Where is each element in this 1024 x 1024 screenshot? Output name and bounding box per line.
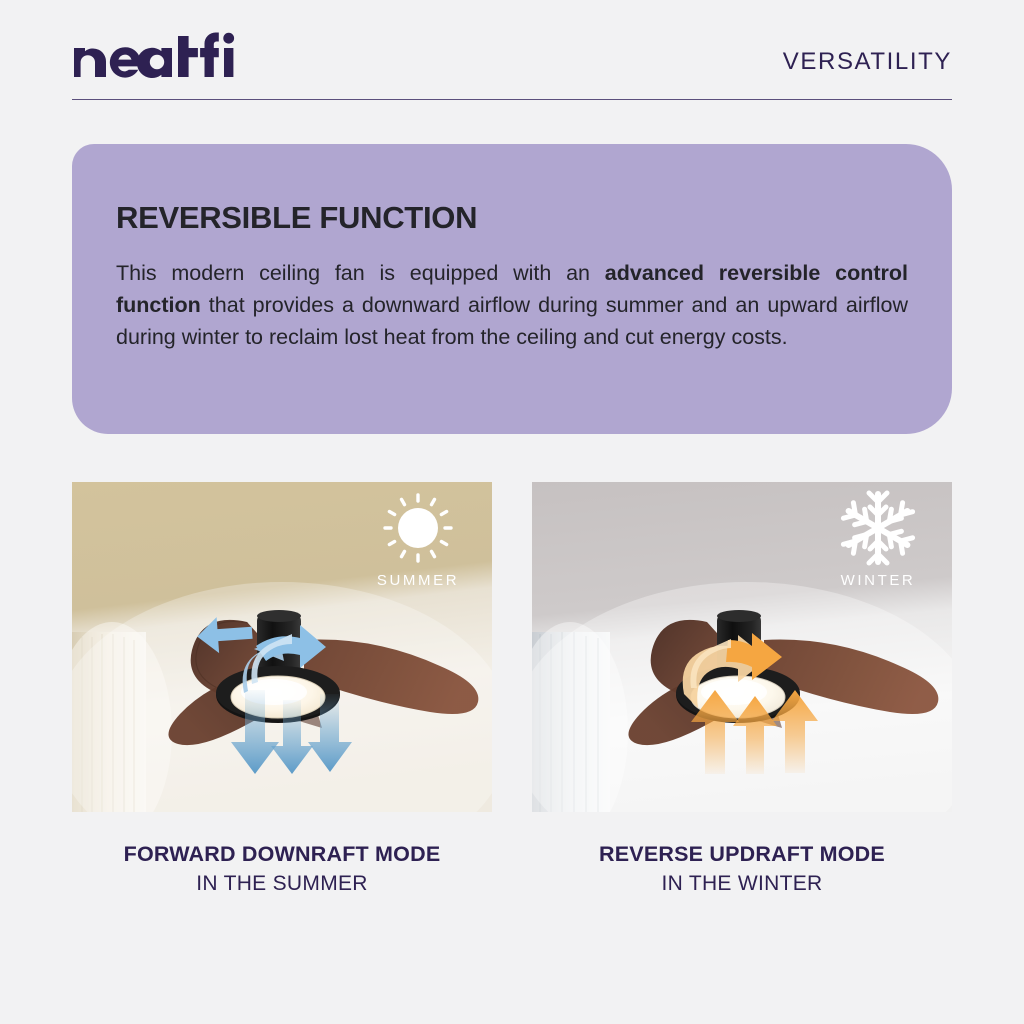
caption-winter: REVERSE UPDRAFT MODE IN THE WINTER xyxy=(532,840,952,898)
card-heading: REVERSIBLE FUNCTION xyxy=(116,200,908,236)
airflow-arrows-up xyxy=(691,690,818,774)
card-body: This modern ceiling fan is equipped with… xyxy=(116,258,908,353)
badge-label-summer: SUMMER xyxy=(377,572,459,589)
badge-label-winter: WINTER xyxy=(841,572,916,589)
card-body-text-1: This modern ceiling fan is equipped with… xyxy=(116,261,605,285)
brand-logo xyxy=(72,30,237,80)
panel-summer: SUMMER xyxy=(72,482,492,812)
caption-summer-subtitle: IN THE SUMMER xyxy=(72,869,492,898)
mode-panels: SUMMER xyxy=(72,482,952,812)
card-body-text-2: that provides a downward airflow during … xyxy=(116,293,908,349)
caption-winter-subtitle: IN THE WINTER xyxy=(532,869,952,898)
caption-summer: FORWARD DOWNRAFT MODE IN THE SUMMER xyxy=(72,840,492,898)
page-header: VERSATILITY xyxy=(72,34,952,100)
caption-summer-title: FORWARD DOWNRAFT MODE xyxy=(72,840,492,869)
panel-winter: WINTER xyxy=(532,482,952,812)
info-card: REVERSIBLE FUNCTION This modern ceiling … xyxy=(72,144,952,434)
panel-captions: FORWARD DOWNRAFT MODE IN THE SUMMER REVE… xyxy=(72,840,952,898)
caption-winter-title: REVERSE UPDRAFT MODE xyxy=(532,840,952,869)
marketing-slide: VERSATILITY REVERSIBLE FUNCTION This mod… xyxy=(0,0,1024,1024)
page-title: VERSATILITY xyxy=(783,48,952,76)
